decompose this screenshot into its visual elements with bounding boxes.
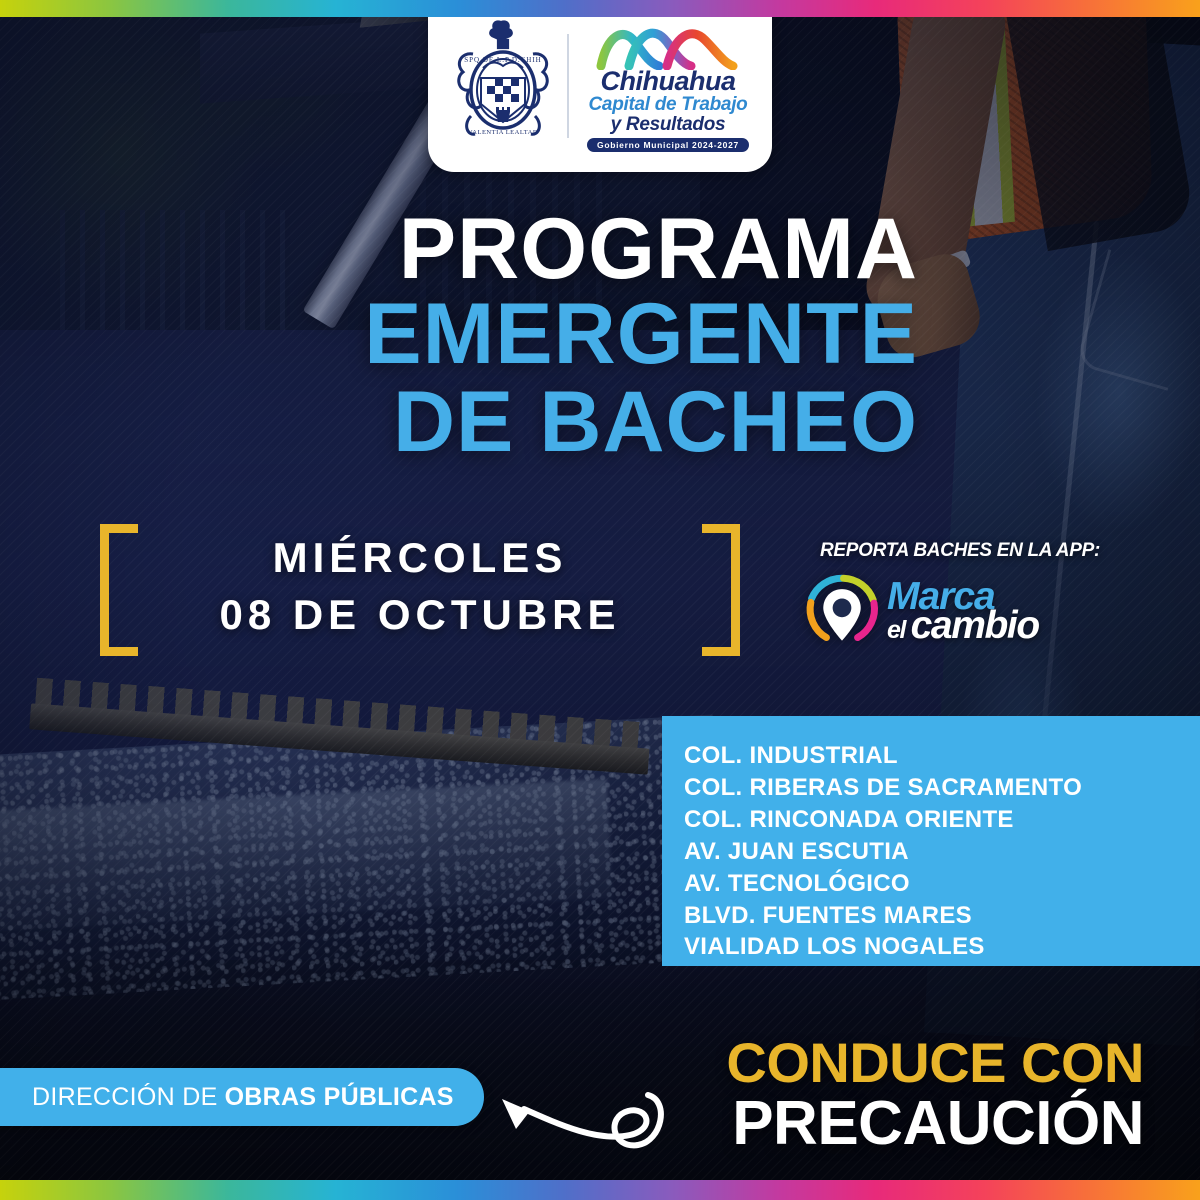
- rainbow-gradient-strip-top: [0, 0, 1200, 17]
- title-line-3: DE BACHEO: [0, 379, 918, 467]
- list-item: COL. INDUSTRIAL: [684, 740, 1200, 772]
- chihuahua-brand-lockup: Chihuahua Capital de Trabajo y Resultado…: [579, 20, 757, 152]
- bracket-left-icon: [100, 524, 138, 656]
- list-item: AV. JUAN ESCUTIA: [684, 836, 1200, 868]
- list-item: BLVD. FUENTES MARES: [684, 900, 1200, 932]
- list-item: VIALIDAD LOS NOGALES: [684, 931, 1200, 963]
- locations-box: COL. INDUSTRIAL COL. RIBERAS DE SACRAMEN…: [662, 716, 1200, 966]
- rainbow-gradient-strip-bottom: [0, 1180, 1200, 1200]
- app-promo-block: REPORTA BACHES EN LA APP: Marca el cambi…: [795, 540, 1125, 650]
- app-name-el: el: [887, 616, 911, 644]
- app-name-cambio: cambio: [911, 604, 1039, 647]
- tagline-line-1: CONDUCE CON: [726, 1034, 1144, 1092]
- department-prefix: DIRECCIÓN DE: [32, 1083, 218, 1112]
- colorful-mountain-arc-icon: [593, 20, 743, 70]
- app-cta-text: REPORTA BACHES EN LA APP:: [795, 540, 1125, 562]
- coat-of-arms-icon: SPQ.DE.L.P.D.CHIH VALENTIA LEALTAD: [443, 16, 563, 156]
- title-line-2: EMERGENTE: [0, 291, 918, 379]
- brand-term-badge: Gobierno Municipal 2024-2027: [587, 138, 749, 152]
- list-item: COL. RINCONADA ORIENTE: [684, 804, 1200, 836]
- date-text: MIÉRCOLES 08 DE OCTUBRE: [152, 530, 688, 643]
- bracket-right-icon: [702, 524, 740, 656]
- brand-line-1: Chihuahua: [601, 68, 736, 95]
- brand-line-2: Capital de Trabajo: [589, 95, 748, 115]
- app-name: Marca el cambio: [887, 580, 1039, 642]
- app-name-secondary: el cambio: [887, 609, 1039, 642]
- date-block: MIÉRCOLES 08 DE OCTUBRE: [100, 524, 740, 656]
- logo-divider: [567, 34, 569, 138]
- poster-root: SPQ.DE.L.P.D.CHIH VALENTIA LEALTAD: [0, 0, 1200, 1200]
- date-weekday: MIÉRCOLES: [152, 530, 688, 587]
- seal-motto-text: VALENTIA LEALTAD: [468, 129, 538, 136]
- date-day-month: 08 DE OCTUBRE: [152, 587, 688, 644]
- department-banner: DIRECCIÓN DE OBRAS PÚBLICAS: [0, 1068, 484, 1126]
- page-title: PROGRAMA EMERGENTE DE BACHEO: [0, 208, 1010, 467]
- map-pin-icon: [803, 572, 881, 650]
- department-name: OBRAS PÚBLICAS: [225, 1083, 454, 1112]
- safety-tagline: CONDUCE CON PRECAUCIÓN: [726, 1034, 1144, 1156]
- list-item: AV. TECNOLÓGICO: [684, 868, 1200, 900]
- government-logo-card: SPQ.DE.L.P.D.CHIH VALENTIA LEALTAD: [428, 0, 772, 172]
- list-item: COL. RIBERAS DE SACRAMENTO: [684, 772, 1200, 804]
- tagline-line-2: PRECAUCIÓN: [726, 1092, 1144, 1156]
- app-logo[interactable]: Marca el cambio: [795, 572, 1125, 650]
- title-line-1: PROGRAMA: [0, 208, 918, 291]
- brand-line-3: y Resultados: [611, 115, 726, 135]
- curved-loop-arrow-icon: [480, 1067, 670, 1162]
- svg-text:SPQ.DE.L.P.D.CHIH: SPQ.DE.L.P.D.CHIH: [464, 56, 541, 64]
